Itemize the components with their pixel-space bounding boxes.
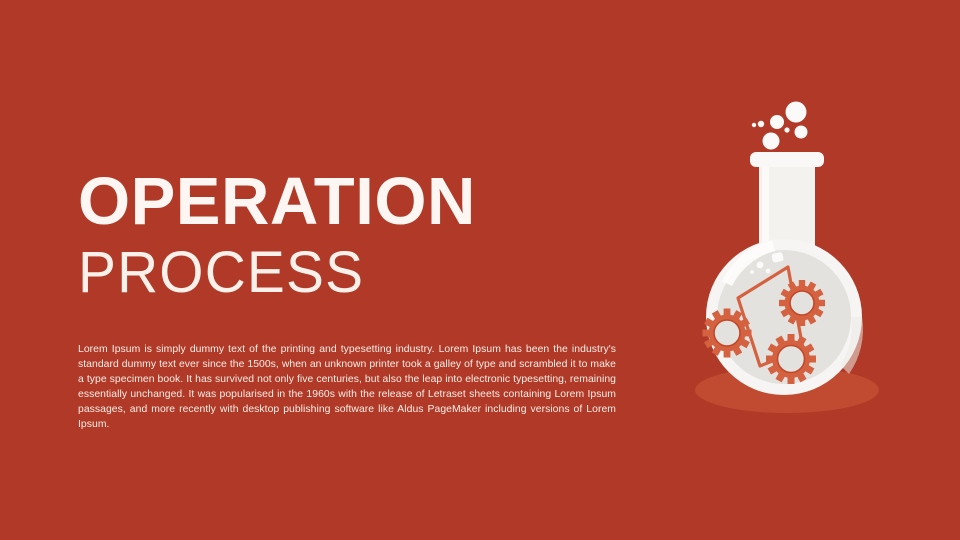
bubble-small-lower	[763, 133, 780, 150]
page-title-primary: OPERATION	[78, 168, 618, 235]
body-paragraph: Lorem Ipsum is simply dummy text of the …	[78, 342, 616, 433]
bubble-dot-b	[752, 123, 756, 127]
bubble-dot-c	[784, 127, 789, 132]
flask-rim	[750, 152, 824, 167]
bubble-group	[752, 102, 808, 150]
bubble-dot-a	[758, 121, 764, 127]
page-title-secondary: PROCESS	[78, 242, 607, 303]
bubble-medium-right	[795, 126, 808, 139]
flask-illustration	[660, 85, 940, 425]
bubble-medium	[770, 115, 784, 129]
bubble-large	[786, 102, 807, 123]
title-group: OPERATION PROCESS	[78, 168, 618, 303]
slide-canvas: OPERATION PROCESS Lorem Ipsum is simply …	[0, 0, 960, 540]
